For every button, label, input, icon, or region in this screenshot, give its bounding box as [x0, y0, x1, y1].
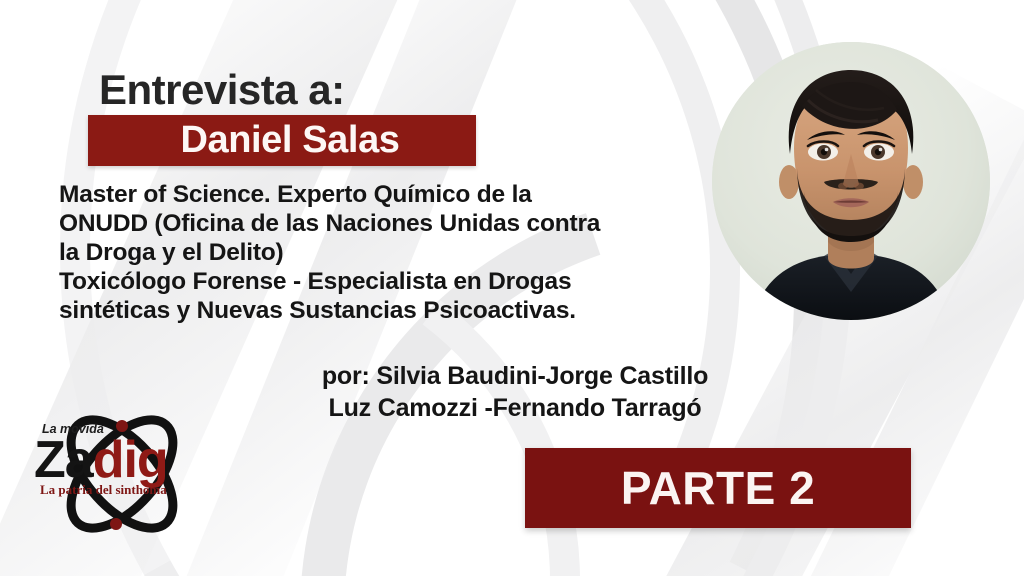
credits-line: por: Silvia Baudini-Jorge Castillo	[265, 360, 765, 392]
atom-nucleus-dot-bottom	[110, 518, 122, 530]
logo-brand-name: Zadig	[34, 434, 168, 486]
bio-line: Toxicólogo Forense - Especialista en Dro…	[59, 267, 699, 296]
credits-block: por: Silvia Baudini-Jorge Castillo Luz C…	[265, 360, 765, 424]
bio-line: ONUDD (Oficina de las Naciones Unidas co…	[59, 209, 699, 238]
slide-canvas: Entrevista a: Daniel Salas Master of Sci…	[0, 0, 1024, 576]
bio-line: Master of Science. Experto Químico de la	[59, 180, 699, 209]
guest-name-text: Daniel Salas	[164, 119, 399, 162]
portrait-illustration	[712, 42, 990, 320]
bio-line: la Droga y el Delito)	[59, 238, 699, 267]
eyebrow-text: Entrevista a:	[99, 66, 345, 114]
part-banner: PARTE 2	[525, 448, 911, 528]
part-label-text: PARTE 2	[621, 461, 815, 515]
logo-tagline: La patria del sinthoma	[40, 482, 167, 498]
credits-line: Luz Camozzi -Fernando Tarragó	[265, 392, 765, 424]
guest-portrait-photo	[712, 42, 990, 320]
logo-brand-first: Za	[34, 431, 93, 489]
bio-line: sintéticas y Nuevas Sustancias Psicoacti…	[59, 296, 699, 325]
logo-brand-second: dig	[93, 431, 168, 489]
zadig-logo: La movida Zadig La patria del sinthoma	[22, 396, 222, 552]
guest-name-banner: Daniel Salas	[88, 115, 476, 166]
guest-bio: Master of Science. Experto Químico de la…	[59, 180, 699, 325]
